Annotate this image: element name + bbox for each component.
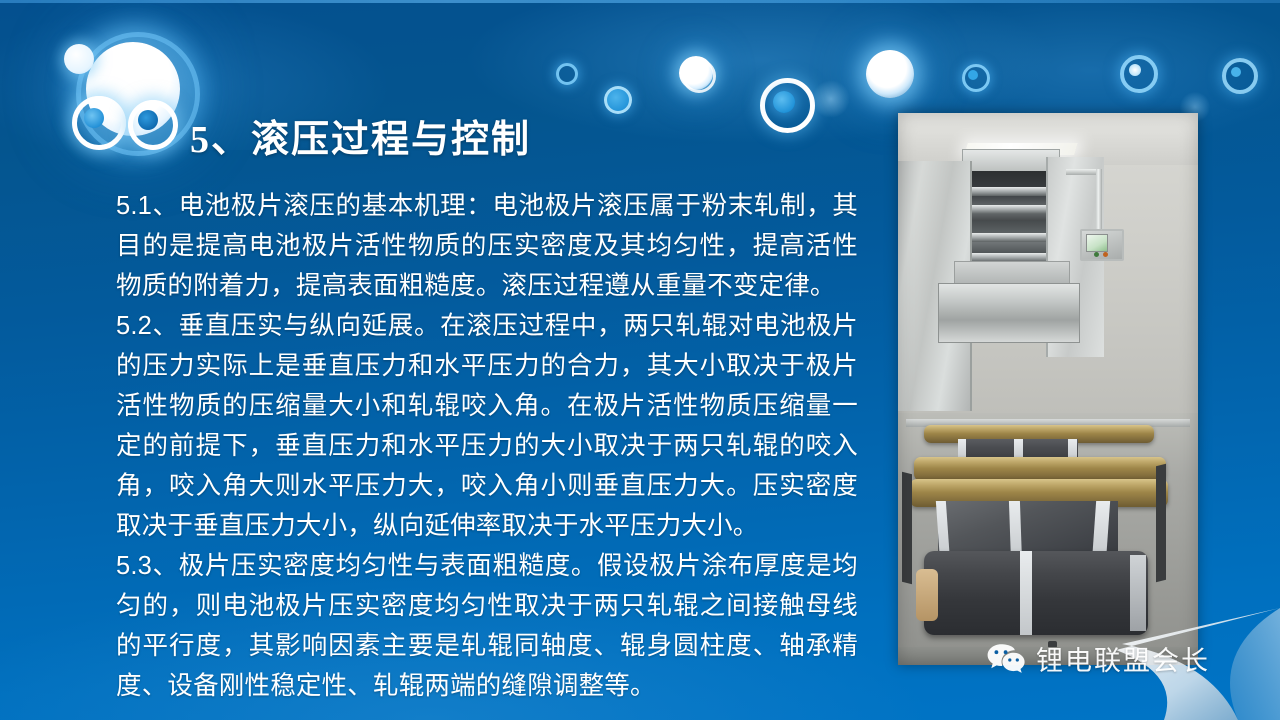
bubble-ring-icon-5 xyxy=(760,78,815,133)
bubble-dot-icon-14 xyxy=(1231,67,1241,77)
logo-outer-ring-icon xyxy=(76,32,200,156)
photo-frame-leg-right xyxy=(1156,464,1166,582)
roll-press-machine-photo xyxy=(898,113,1198,665)
bubble-ring-icon-4 xyxy=(682,59,716,93)
photo-control-green-button xyxy=(1094,252,1099,257)
paragraph-5-1: 5.1、电池极片滚压的基本机理：电池极片滚压属于粉末轧制，其目的是提高电池极片活… xyxy=(116,186,858,306)
photo-control-orange-button xyxy=(1103,252,1108,257)
photo-roll-tape xyxy=(1020,551,1032,635)
photo-support-post xyxy=(1096,169,1102,231)
bubble-dot-icon-12 xyxy=(1129,64,1141,76)
logo-ring-circle-icon-a xyxy=(72,96,126,150)
top-accent-line xyxy=(0,0,1280,3)
slide-canvas: 5、滚压过程与控制 5.1、电池极片滚压的基本机理：电池极片滚压属于粉末轧制，其… xyxy=(0,0,1280,720)
bubble-ring-icon-9 xyxy=(962,64,990,92)
bubble-dot-icon-2 xyxy=(604,86,632,114)
photo-content xyxy=(898,113,1198,665)
logo-small-circle-icon xyxy=(64,44,94,74)
slide-body-text: 5.1、电池极片滚压的基本机理：电池极片滚压属于粉末轧制，其目的是提高电池极片活… xyxy=(116,186,858,706)
photo-internal-roller-2 xyxy=(968,205,1054,214)
bubble-ring-icon-13 xyxy=(1222,58,1258,94)
photo-roll-edge-highlight xyxy=(1130,555,1146,631)
photo-internal-roller-1 xyxy=(968,187,1054,196)
slide-title: 5、滚压过程与控制 xyxy=(190,108,531,163)
photo-frame-leg-left xyxy=(902,472,912,584)
logo-ring-circle-icon-b xyxy=(128,100,178,150)
photo-floor xyxy=(898,647,1198,665)
bubble-glow-icon-3 xyxy=(679,56,713,90)
bubble-glow-icon-8 xyxy=(866,50,914,98)
photo-electrode-take-up-roll xyxy=(924,551,1148,635)
photo-roll-core-end xyxy=(916,569,938,621)
photo-lower-tray xyxy=(938,283,1080,343)
photo-gold-roller-2 xyxy=(914,457,1166,481)
bubble-ring-icon-11 xyxy=(1120,55,1158,93)
photo-internal-roller-3 xyxy=(968,233,1054,242)
bubble-dot-icon-6 xyxy=(773,91,795,113)
bubble-soft-icon-7 xyxy=(812,80,850,118)
bubble-dot-icon-10 xyxy=(968,70,978,80)
bubble-ring-icon-1 xyxy=(556,63,578,85)
paragraph-5-3: 5.3、极片压实密度均匀性与表面粗糙度。假设极片涂布厚度是均匀的，则电池极片压实… xyxy=(116,546,858,706)
logo-main-circle-icon xyxy=(86,42,180,136)
paragraph-5-2: 5.2、垂直压实与纵向延展。在滚压过程中，两只轧辊对电池极片的压力实际上是垂直压… xyxy=(116,306,858,546)
photo-control-hmi-screen xyxy=(1086,234,1108,252)
